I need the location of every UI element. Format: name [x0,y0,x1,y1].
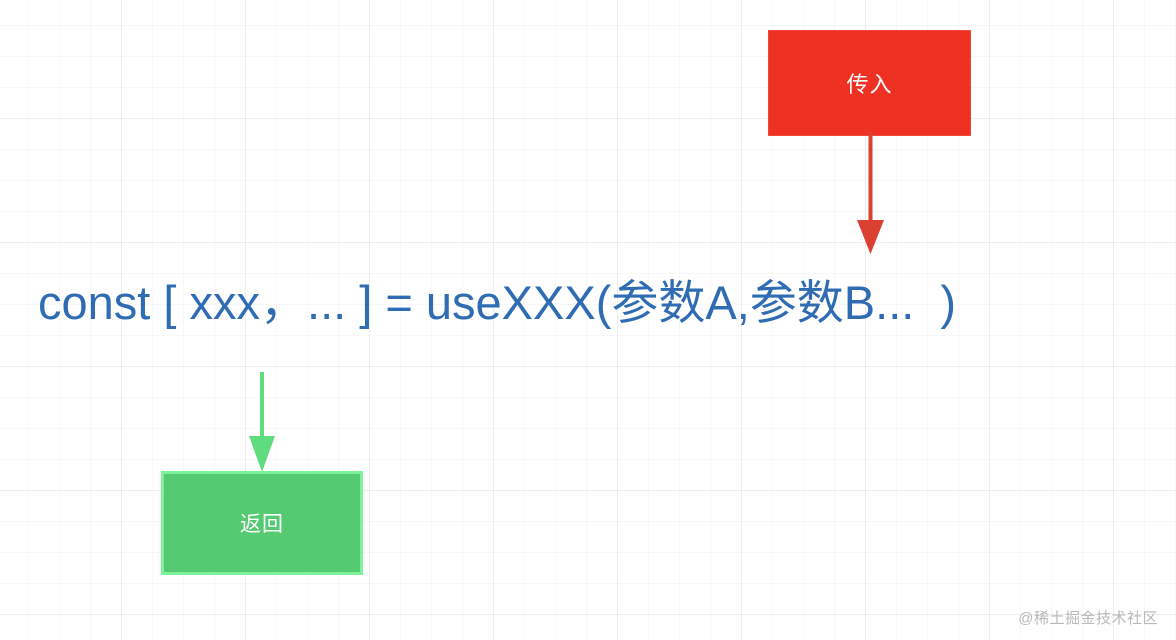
code-segment-destructuring: [ xxx，... ] [163,279,372,326]
input-arrow-icon [850,132,894,256]
watermark: @稀土掘金技术社区 [1018,607,1158,628]
input-node-box[interactable]: 传入 [768,30,971,136]
return-node-label: 返回 [240,508,284,538]
input-node-label: 传入 [846,67,892,99]
return-node-box[interactable]: 返回 [161,471,363,575]
code-expression: const [ xxx，... ] = useXXX( 参数A,参数B... ) [38,271,1148,333]
code-segment-assignment: = useXXX( [372,279,611,326]
code-segment-close-paren: ) [914,279,956,326]
code-segment-const: const [38,279,163,326]
return-arrow-icon [240,372,284,476]
code-segment-arguments: 参数A,参数B... [611,279,914,326]
diagram-canvas: 传入 const [ xxx，... ] = useXXX( 参数A,参数B..… [0,0,1176,640]
